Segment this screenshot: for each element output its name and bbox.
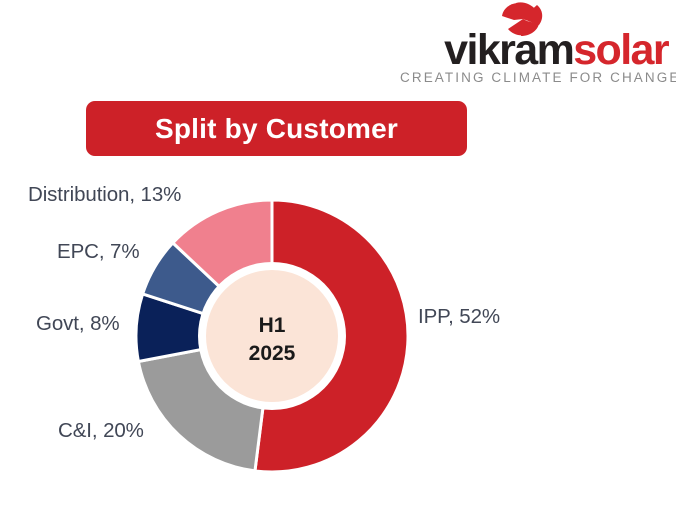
slice-label-distribution: Distribution, 13% — [28, 183, 181, 207]
logo-wordmark: vikramsolar — [400, 28, 668, 72]
logo-tagline: CREATING CLIMATE FOR CHANGE — [400, 70, 668, 85]
slice-label-epc: EPC, 7% — [57, 240, 139, 264]
page-title-banner: Split by Customer — [86, 101, 467, 156]
page-title: Split by Customer — [155, 113, 398, 145]
slice-label-ci: C&I, 20% — [58, 419, 144, 443]
donut-center-line2: 2025 — [249, 342, 296, 365]
logo-word-vikram: vikram — [444, 26, 573, 74]
donut-center-line1: H1 — [259, 314, 286, 337]
donut-chart: H1 2025 — [136, 200, 408, 472]
slice-label-govt: Govt, 8% — [36, 312, 120, 336]
logo-word-solar: solar — [573, 26, 668, 74]
slice-label-ipp: IPP, 52% — [418, 305, 500, 329]
brand-logo: vikramsolar CREATING CLIMATE FOR CHANGE — [400, 2, 668, 94]
donut-chart-svg: H1 2025 — [136, 200, 408, 472]
